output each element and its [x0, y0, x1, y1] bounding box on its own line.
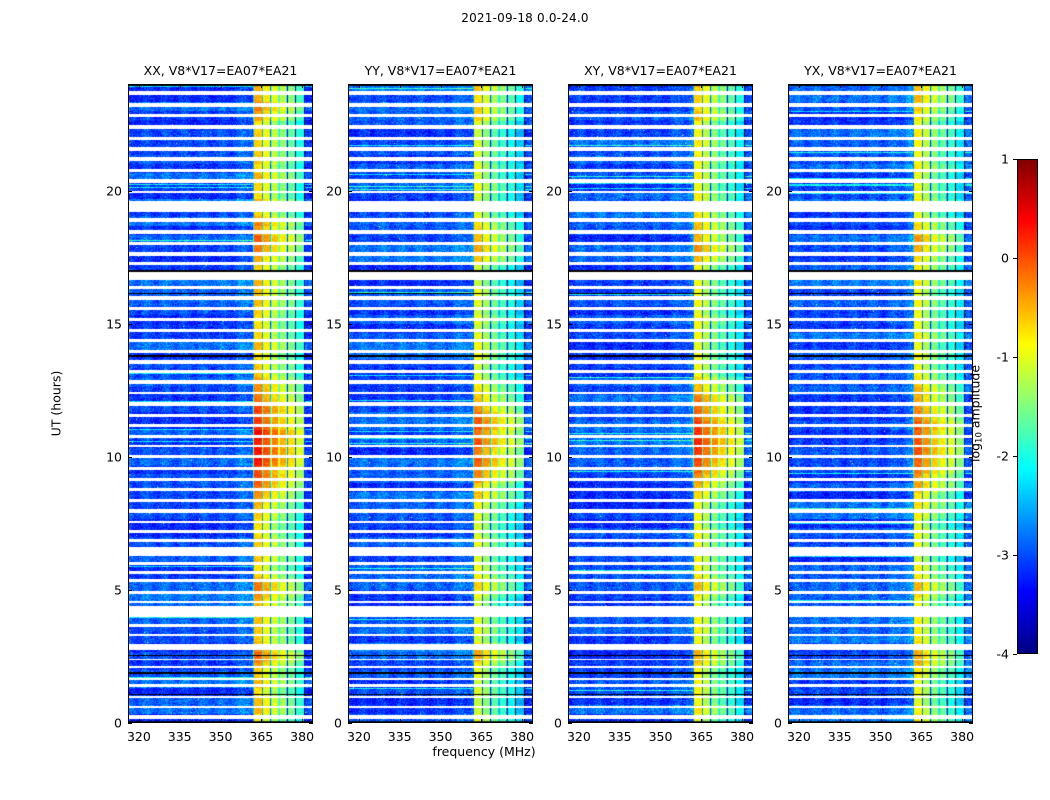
x-axis-label: frequency (MHz) — [432, 744, 535, 759]
y-tick-label: 15 — [528, 316, 562, 331]
y-tickmark — [348, 590, 352, 591]
y-tickmark — [788, 457, 792, 458]
y-tick-label: 10 — [748, 449, 782, 464]
y-tick-label: 5 — [748, 582, 782, 597]
y-tickmark — [128, 324, 132, 325]
x-tick-label: 350 — [429, 729, 453, 744]
x-tick-label: 365 — [469, 729, 493, 744]
y-tick-label: 0 — [528, 716, 562, 731]
colorbar-tickmark — [1013, 555, 1017, 556]
colorbar-tick-label: -4 — [975, 647, 1009, 662]
y-tickmark-right — [969, 191, 973, 192]
x-tick-label: 350 — [209, 729, 233, 744]
y-tickmark-right — [969, 590, 973, 591]
y-tick-label: 20 — [308, 183, 342, 198]
colorbar-tickmark — [1013, 159, 1017, 160]
panel-title-yx: YX, V8*V17=EA07*EA21 — [804, 63, 957, 78]
x-tickmark-top — [579, 84, 580, 88]
y-tickmark — [348, 457, 352, 458]
colorbar-tickmark — [1013, 258, 1017, 259]
y-tick-label: 5 — [528, 582, 562, 597]
spectrogram-image-xx — [128, 84, 313, 723]
x-tickmark-top — [881, 84, 882, 88]
y-tick-label: 15 — [308, 316, 342, 331]
panel-title-xy: XY, V8*V17=EA07*EA21 — [584, 63, 737, 78]
y-tickmark — [568, 723, 572, 724]
panel-title-yy: YY, V8*V17=EA07*EA21 — [365, 63, 517, 78]
y-tick-label: 5 — [308, 582, 342, 597]
y-tickmark — [568, 324, 572, 325]
y-tickmark — [788, 723, 792, 724]
x-tickmark-top — [180, 84, 181, 88]
x-tickmark — [742, 719, 743, 723]
colorbar-label: log10 amplitude — [968, 344, 983, 484]
colorbar-label-subscript: 10 — [975, 432, 985, 443]
x-tickmark — [799, 719, 800, 723]
colorbar-tick-label: -3 — [975, 548, 1009, 563]
x-tick-label: 365 — [249, 729, 273, 744]
colorbar-tickmark — [1013, 654, 1017, 655]
y-tickmark-right — [969, 723, 973, 724]
y-tickmark — [568, 590, 572, 591]
spectrogram-panel-yx[interactable]: YX, V8*V17=EA07*EA21 — [788, 84, 973, 723]
x-tickmark-top — [139, 84, 140, 88]
x-tick-label: 320 — [127, 729, 151, 744]
colorbar-tick-label: 0 — [975, 251, 1009, 266]
x-tickmark-top — [441, 84, 442, 88]
x-tickmark — [441, 719, 442, 723]
x-tickmark-top — [302, 84, 303, 88]
x-tickmark — [359, 719, 360, 723]
spectrogram-panel-yy[interactable]: YY, V8*V17=EA07*EA21 — [348, 84, 533, 723]
x-tick-label: 380 — [290, 729, 314, 744]
y-tickmark — [128, 723, 132, 724]
y-tick-label: 0 — [748, 716, 782, 731]
colorbar-label-prefix: log — [968, 443, 983, 462]
x-tickmark — [400, 719, 401, 723]
spectrogram-image-xy — [568, 84, 753, 723]
y-tick-label: 0 — [88, 716, 122, 731]
y-tick-label: 15 — [748, 316, 782, 331]
y-tickmark-right — [969, 324, 973, 325]
x-tickmark — [881, 719, 882, 723]
x-tickmark — [661, 719, 662, 723]
x-tick-label: 365 — [689, 729, 713, 744]
x-tickmark-top — [962, 84, 963, 88]
spectrogram-panel-xx[interactable]: XX, V8*V17=EA07*EA21 — [128, 84, 313, 723]
x-tickmark-top — [522, 84, 523, 88]
x-tickmark-top — [481, 84, 482, 88]
y-tick-label: 20 — [528, 183, 562, 198]
x-tickmark-top — [921, 84, 922, 88]
y-axis-label: UT (hours) — [49, 359, 64, 449]
y-tickmark — [568, 457, 572, 458]
x-tickmark — [221, 719, 222, 723]
y-tick-label: 10 — [88, 449, 122, 464]
colorbar-tickmark — [1013, 456, 1017, 457]
x-tickmark — [481, 719, 482, 723]
x-tickmark-top — [701, 84, 702, 88]
spectrogram-panel-xy[interactable]: XY, V8*V17=EA07*EA21 — [568, 84, 753, 723]
x-tickmark-top — [799, 84, 800, 88]
y-tickmark — [348, 723, 352, 724]
x-tickmark-top — [221, 84, 222, 88]
spectrogram-image-yy — [348, 84, 533, 723]
x-tick-label: 335 — [608, 729, 632, 744]
x-tickmark-top — [359, 84, 360, 88]
x-tickmark-top — [840, 84, 841, 88]
figure-suptitle: 2021-09-18 0.0-24.0 — [0, 11, 1050, 25]
y-tick-label: 20 — [88, 183, 122, 198]
y-tick-label: 5 — [88, 582, 122, 597]
figure-canvas-root: 2021-09-18 0.0-24.0 XX, V8*V17=EA07*EA21… — [0, 0, 1050, 800]
spectrogram-image-yx — [788, 84, 973, 723]
x-tick-label: 380 — [510, 729, 534, 744]
colorbar-gradient — [1017, 159, 1038, 654]
x-tickmark — [579, 719, 580, 723]
x-tick-label: 380 — [950, 729, 974, 744]
y-tick-label: 10 — [528, 449, 562, 464]
x-tick-label: 335 — [828, 729, 852, 744]
y-tickmark-right — [969, 457, 973, 458]
y-tick-label: 15 — [88, 316, 122, 331]
y-tickmark — [788, 324, 792, 325]
x-tickmark — [180, 719, 181, 723]
x-tick-label: 335 — [388, 729, 412, 744]
x-tickmark — [261, 719, 262, 723]
x-tickmark — [522, 719, 523, 723]
x-tickmark — [840, 719, 841, 723]
x-tickmark — [701, 719, 702, 723]
y-tick-label: 10 — [308, 449, 342, 464]
x-tick-label: 350 — [869, 729, 893, 744]
y-tick-label: 20 — [748, 183, 782, 198]
y-tickmark — [128, 191, 132, 192]
x-tickmark-top — [742, 84, 743, 88]
y-tickmark — [128, 457, 132, 458]
x-tickmark-top — [261, 84, 262, 88]
x-tickmark-top — [661, 84, 662, 88]
colorbar-label-suffix: amplitude — [968, 365, 983, 432]
x-tickmark — [139, 719, 140, 723]
colorbar-tickmark — [1013, 357, 1017, 358]
x-tick-label: 350 — [649, 729, 673, 744]
x-tick-label: 365 — [909, 729, 933, 744]
x-tick-label: 320 — [567, 729, 591, 744]
y-tickmark — [348, 324, 352, 325]
y-tickmark — [128, 590, 132, 591]
y-tickmark — [788, 590, 792, 591]
x-tickmark — [921, 719, 922, 723]
colorbar-tick-label: 1 — [975, 152, 1009, 167]
y-tickmark — [788, 191, 792, 192]
x-tickmark — [962, 719, 963, 723]
x-tick-label: 320 — [787, 729, 811, 744]
x-tickmark-top — [400, 84, 401, 88]
x-tickmark — [620, 719, 621, 723]
y-tickmark — [568, 191, 572, 192]
x-tick-label: 335 — [168, 729, 192, 744]
y-tick-label: 0 — [308, 716, 342, 731]
x-tickmark — [302, 719, 303, 723]
x-tickmark-top — [620, 84, 621, 88]
y-tickmark — [348, 191, 352, 192]
colorbar[interactable] — [1017, 159, 1038, 654]
panel-title-xx: XX, V8*V17=EA07*EA21 — [144, 63, 298, 78]
x-tick-label: 320 — [347, 729, 371, 744]
x-tick-label: 380 — [730, 729, 754, 744]
